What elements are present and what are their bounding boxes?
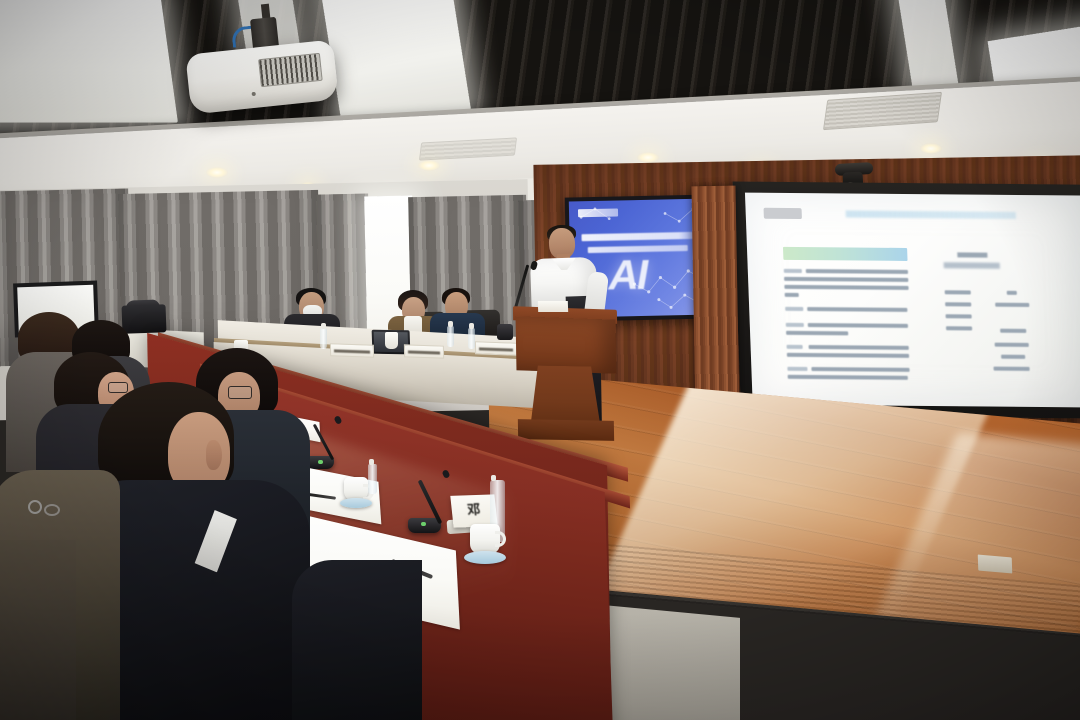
blue-saucer [340,498,372,508]
water-bottle [468,328,475,349]
slide-body-line [811,367,909,372]
slide-right-item [945,290,971,294]
name-card [404,344,444,358]
slide-right-item [995,303,1029,307]
projector-indicator-icon [252,92,256,96]
slide-body-line [788,375,908,380]
blue-saucer [464,551,506,564]
slide-body-line [785,293,799,297]
slide-body-line [787,367,807,371]
water-bottle [447,326,454,347]
slide-right-item [946,326,972,330]
recessed-downlight [206,167,228,178]
slide-body-line [784,285,908,290]
slide-tag-badge [764,208,802,219]
teacup [385,332,398,349]
slide-body-line [786,323,804,327]
water-bottle [368,464,377,494]
slide-right-item [945,302,971,306]
recessed-downlight [920,143,942,154]
podium-column [529,365,600,426]
name-card-text [408,350,440,354]
slide-logo-icon [578,208,618,217]
microphone-led-icon [318,460,323,464]
linear-led-light-panel [0,0,178,123]
water-bottle [320,328,327,349]
slide-headline [846,210,1016,218]
desk-device [497,324,513,340]
wooden-podium [516,316,617,374]
floor-cable-socket [978,554,1013,573]
slide-body-line [784,277,908,282]
slide-body-line [784,269,802,273]
name-card [475,341,517,355]
slide-right-item [1007,291,1017,295]
slide-right-item [993,367,1029,371]
slide-body-line [806,269,908,274]
slide-right-title [957,252,987,257]
recessed-downlight [418,160,440,171]
av-control-equipment [122,304,167,334]
slide-body-line [787,353,909,358]
slide-body-line [807,307,907,312]
name-card [330,343,374,358]
slide-body-line [785,307,803,311]
audience-member-4-ear [206,440,222,470]
podium-base [518,419,614,441]
conference-room-photo: AI [0,0,1080,720]
audience-coat [0,540,76,720]
name-card-text [334,349,370,353]
teacup-with-lid [470,524,500,554]
slide-right-item [1000,329,1026,333]
slide-body-line [808,323,908,328]
slide-body-line [809,345,909,350]
eyeglasses [108,382,128,393]
projector-exhaust-vent [258,53,323,87]
recessed-downlight [637,152,659,163]
microphone-led-icon [421,522,426,526]
slide-body-line [787,345,803,349]
audience-member-shoulder [292,560,422,720]
lanyard-ring-icon [28,500,42,514]
speaker-notes [538,301,568,312]
slide-right-subtitle [944,262,1000,268]
document-slide [745,193,1080,408]
slide-ai-text: AI [608,254,647,297]
slide-right-item [1001,355,1025,359]
eyeglasses [228,386,252,399]
name-card-text [479,347,513,351]
slide-right-item [946,314,972,318]
slide-header-bar [783,247,908,261]
slide-body-line [786,331,848,336]
slide-right-item [995,343,1029,347]
lanyard-ring-icon [44,504,60,516]
